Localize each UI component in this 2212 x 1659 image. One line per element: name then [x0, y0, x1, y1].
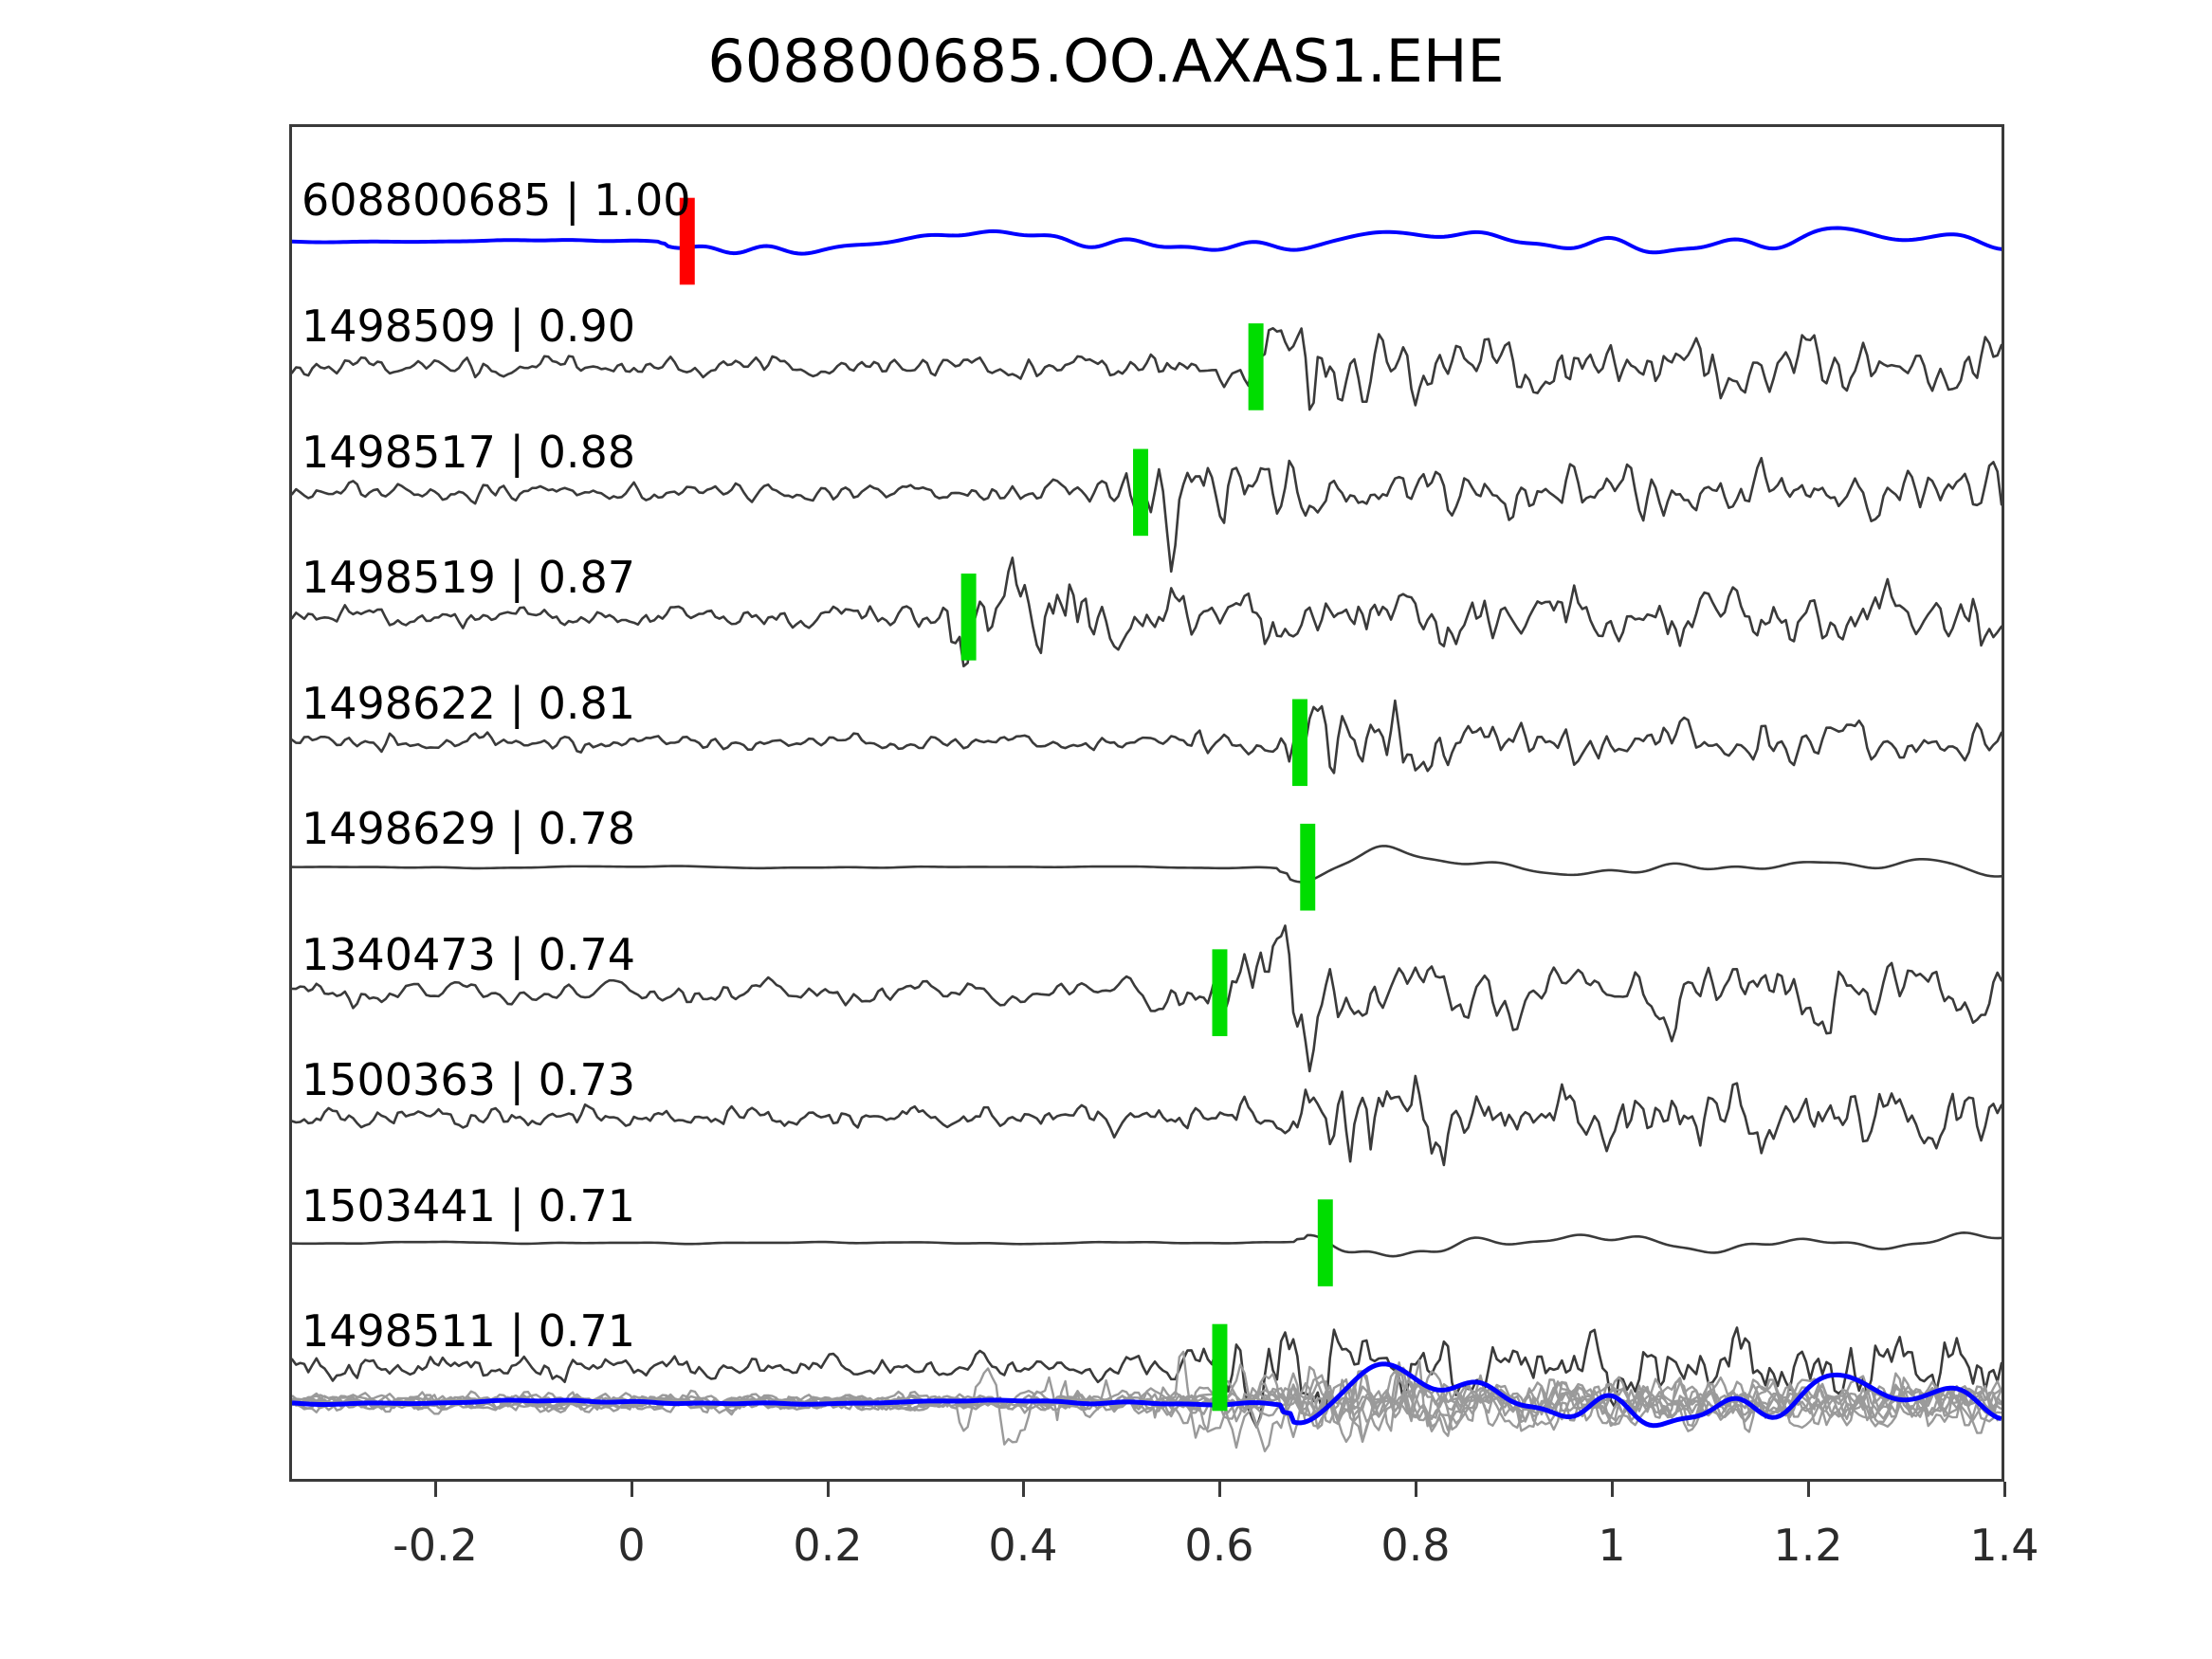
x-axis-tick-labels: -0.200.20.40.60.811.21.4	[0, 1482, 2212, 1595]
page-title: 608800685.OO.AXAS1.EHE	[0, 27, 2212, 96]
x-tick-label: -0.2	[393, 1520, 478, 1571]
x-tick-mark	[1218, 1482, 1221, 1497]
x-tick-label: 1.2	[1773, 1520, 1842, 1571]
waveform-trace	[292, 1232, 2002, 1256]
detection-pick-marker	[1300, 824, 1315, 911]
x-tick-label: 0.8	[1380, 1520, 1450, 1571]
x-tick-mark	[631, 1482, 633, 1497]
detection-pick-marker	[961, 574, 977, 661]
detection-pick-marker	[1213, 949, 1228, 1036]
trace-label-1498622: 1498622 | 0.81	[302, 682, 635, 725]
trace-label-1498629: 1498629 | 0.78	[302, 807, 635, 850]
x-tick-mark	[1022, 1482, 1025, 1497]
detection-pick-marker	[1292, 699, 1307, 786]
pick-markers-group	[680, 198, 1333, 1412]
x-tick-mark	[2003, 1482, 2006, 1497]
trace-label-608800685: 608800685 | 1.00	[302, 178, 691, 222]
x-tick-label: 0	[617, 1520, 645, 1571]
x-tick-mark	[827, 1482, 830, 1497]
x-tick-label: 0.2	[793, 1520, 862, 1571]
trace-label-1503441: 1503441 | 0.71	[302, 1184, 635, 1228]
trace-label-1498517: 1498517 | 0.88	[302, 430, 635, 474]
detection-pick-marker	[1213, 1324, 1228, 1412]
x-tick-mark	[1611, 1482, 1614, 1497]
waveform-figure: 608800685.OO.AXAS1.EHE 608800685 | 1.001…	[0, 0, 2212, 1659]
x-tick-mark	[1807, 1482, 1810, 1497]
x-tick-mark	[434, 1482, 437, 1497]
x-tick-mark	[1415, 1482, 1417, 1497]
x-tick-label: 0.4	[988, 1520, 1057, 1571]
trace-label-1340473: 1340473 | 0.74	[302, 933, 635, 976]
trace-label-1498509: 1498509 | 0.90	[302, 304, 635, 348]
waveform-trace	[292, 228, 2002, 254]
x-tick-label: 0.6	[1184, 1520, 1253, 1571]
trace-label-1500363: 1500363 | 0.73	[302, 1058, 635, 1102]
x-tick-label: 1.4	[1969, 1520, 2038, 1571]
trace-label-1498511: 1498511 | 0.71	[302, 1309, 635, 1353]
detection-pick-marker	[1133, 449, 1148, 537]
detection-pick-marker	[1318, 1199, 1333, 1286]
detection-pick-marker	[1249, 323, 1264, 410]
x-tick-label: 1	[1598, 1520, 1625, 1571]
trace-label-1498519: 1498519 | 0.87	[302, 556, 635, 599]
